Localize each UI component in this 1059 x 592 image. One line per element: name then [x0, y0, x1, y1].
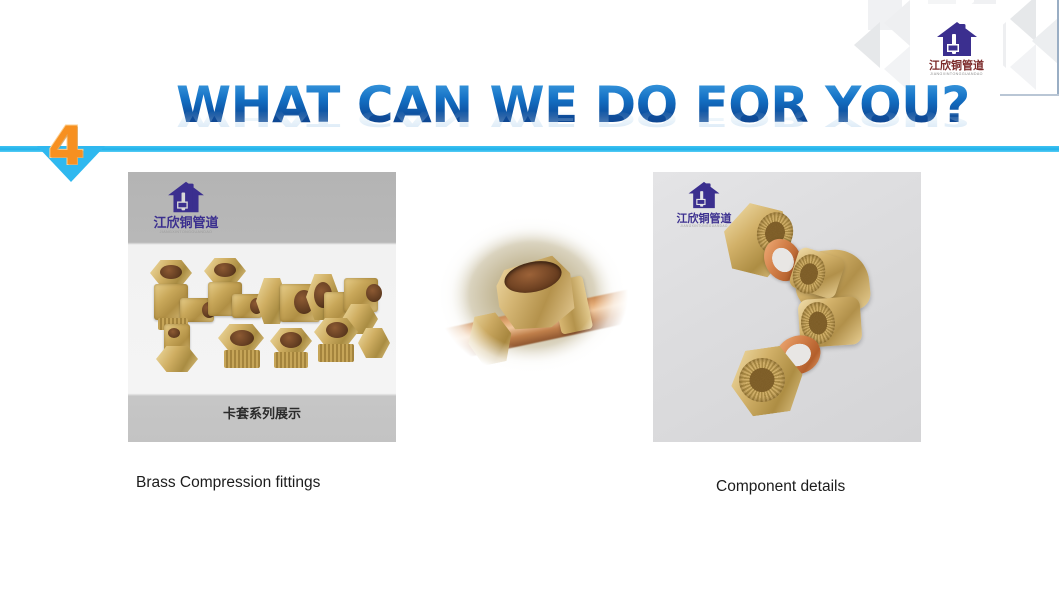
photo-inner-caption: 卡套系列展示 — [128, 403, 396, 422]
fittings-illustration — [128, 258, 396, 398]
page-title-text: WHAT CAN WE DO FOR YOU? — [176, 80, 970, 130]
caption-right: Component details — [716, 478, 845, 496]
photo-tee-fitting-on-copper-pipe[interactable] — [424, 218, 640, 378]
photo-brass-compression-fittings[interactable]: 江欣铜管道 JIANGXINTONGGUANDAO — [128, 172, 396, 442]
house-wrench-icon — [935, 20, 979, 58]
photo-component-details[interactable]: 江欣铜管道 JIANGXINTONGGUANDAO — [653, 172, 921, 442]
watermark-pinyin: JIANGXINTONGGUANDAO — [680, 225, 728, 228]
brand-name-cn: 江欣铜管道 — [929, 60, 984, 71]
page-title: WHAT CAN WE DO FOR YOU? WHAT CAN WE DO F… — [176, 80, 970, 150]
vignette-overlay — [424, 218, 640, 378]
slide-canvas: 江欣铜管道 JIANGXINTONGGUANDAO 4 WHAT CAN WE … — [0, 0, 1059, 592]
watermark-pinyin: JIANGXINTONGGUANDAO — [160, 231, 213, 235]
photo-watermark: 江欣铜管道 JIANGXINTONGGUANDAO — [663, 180, 745, 228]
watermark-name-cn: 江欣铜管道 — [677, 213, 732, 224]
watermark-name-cn: 江欣铜管道 — [153, 217, 218, 230]
slide-number: 4 — [48, 120, 85, 173]
house-wrench-icon — [687, 180, 721, 210]
slide-border-corner — [1000, 94, 1059, 96]
photo-watermark: 江欣铜管道 JIANGXINTONGGUANDAO — [142, 180, 230, 235]
house-wrench-icon — [166, 180, 206, 214]
caption-left: Brass Compression fittings — [136, 474, 320, 492]
